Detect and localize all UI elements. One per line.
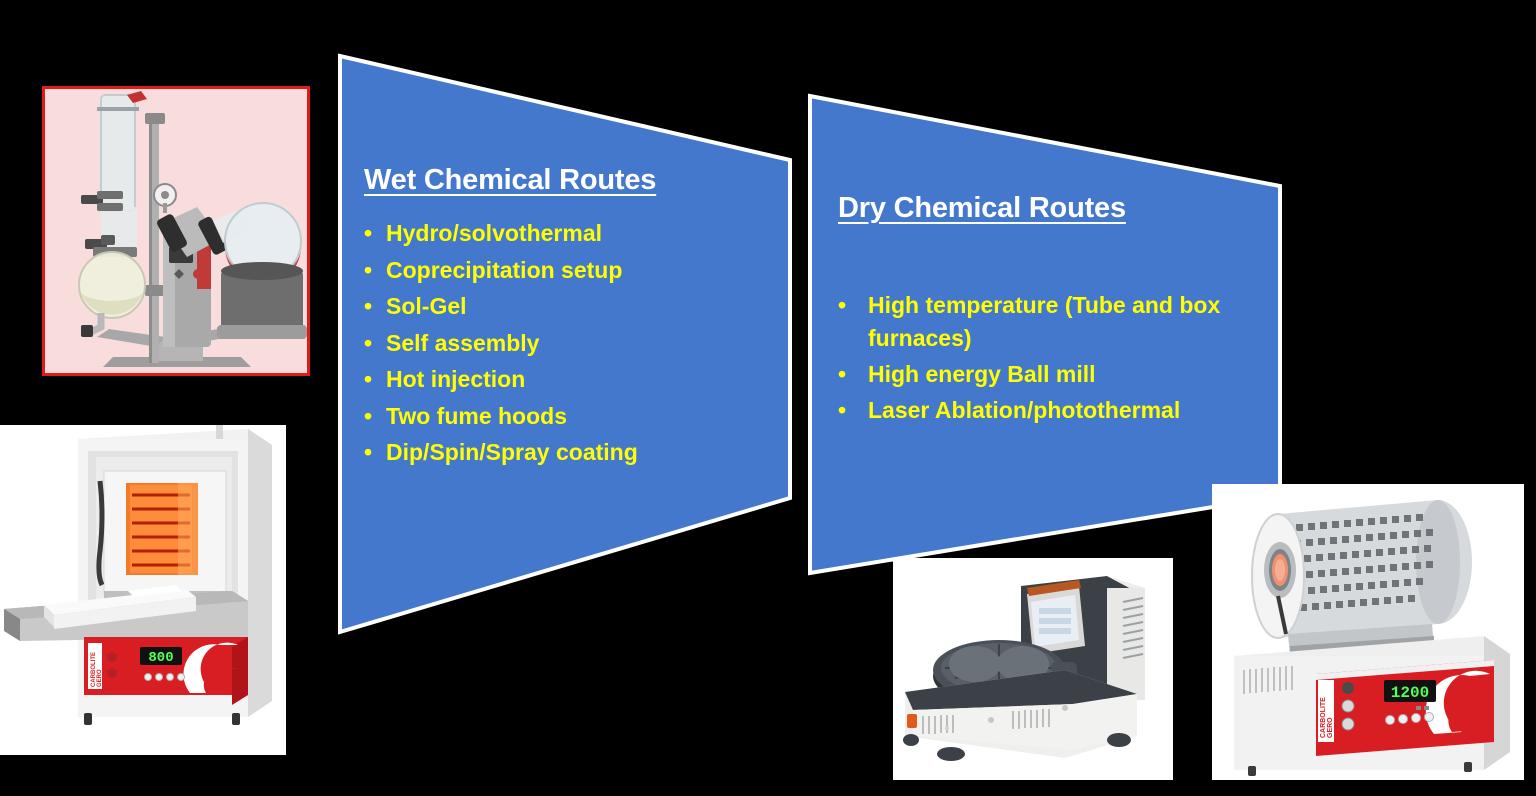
rotary-evaporator-photo [42, 86, 310, 376]
wet-panel-content: Wet Chemical Routes • Hydro/solvothermal… [364, 164, 764, 471]
list-item-label: High energy Ball mill [868, 358, 1268, 391]
ball-mill-illustration [903, 576, 1145, 761]
dry-panel-content: Dry Chemical Routes • High temperature (… [838, 192, 1268, 430]
slide-canvas: Wet Chemical Routes • Hydro/solvothermal… [0, 0, 1536, 796]
bullet-icon: • [364, 434, 372, 471]
bullet-icon: • [364, 215, 372, 252]
svg-text:CARBOLITE: CARBOLITE [1320, 697, 1327, 738]
list-item-label: Sol-Gel [386, 288, 764, 325]
rotovap-illustration [79, 91, 307, 367]
box-furnace-illustration: CARBOLITE GERO 800 [4, 425, 272, 743]
ball-mill-photo [893, 558, 1173, 780]
wet-panel-bullet-list: • Hydro/solvothermal • Coprecipitation s… [364, 215, 764, 471]
tube-furnace-illustration: CARBOLITE GERO 1200 [1234, 500, 1510, 776]
list-item[interactable]: • Sol-Gel [364, 288, 764, 325]
bullet-icon: • [364, 252, 372, 289]
tube-furnace-photo: CARBOLITE GERO 1200 [1212, 484, 1524, 780]
bullet-icon: • [364, 361, 372, 398]
dry-panel-bullet-list: • High temperature (Tube and box furnace… [838, 289, 1268, 427]
list-item[interactable]: • Dip/Spin/Spray coating [364, 434, 764, 471]
svg-text:GERO: GERO [97, 669, 103, 687]
list-item[interactable]: • Two fume hoods [364, 398, 764, 435]
bullet-icon: • [838, 394, 846, 427]
tube-furnace-display: 1200 [1391, 684, 1429, 702]
list-item[interactable]: • Coprecipitation setup [364, 252, 764, 289]
list-item-label: Two fume hoods [386, 398, 764, 435]
dry-panel-title: Dry Chemical Routes [838, 192, 1268, 225]
list-item[interactable]: • Hot injection [364, 361, 764, 398]
wet-panel-title: Wet Chemical Routes [364, 164, 764, 197]
bullet-icon: • [364, 325, 372, 362]
box-furnace-display: 800 [148, 650, 173, 666]
list-item-label: Laser Ablation/photothermal [868, 394, 1268, 427]
list-item-label: Hot injection [386, 361, 764, 398]
bullet-icon: • [364, 398, 372, 435]
list-item-label: Dip/Spin/Spray coating [386, 434, 764, 471]
list-item-label: High temperature (Tube and box furnaces) [868, 289, 1268, 355]
list-item[interactable]: • High temperature (Tube and box furnace… [838, 289, 1268, 355]
list-item[interactable]: • High energy Ball mill [838, 358, 1268, 391]
svg-text:GERO: GERO [1327, 717, 1334, 738]
bullet-icon: • [838, 358, 846, 391]
list-item[interactable]: • Laser Ablation/photothermal [838, 394, 1268, 427]
box-furnace-photo: CARBOLITE GERO 800 [0, 425, 286, 755]
bullet-icon: • [838, 289, 846, 322]
list-item-label: Self assembly [386, 325, 764, 362]
list-item[interactable]: • Hydro/solvothermal [364, 215, 764, 252]
list-item-label: Coprecipitation setup [386, 252, 764, 289]
list-item-label: Hydro/solvothermal [386, 215, 764, 252]
list-item[interactable]: • Self assembly [364, 325, 764, 362]
bullet-icon: • [364, 288, 372, 325]
